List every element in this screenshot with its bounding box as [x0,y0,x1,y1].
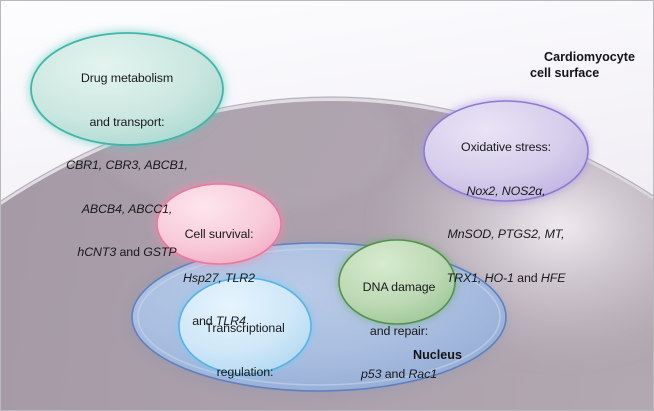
bubble-drug-metabolism[interactable] [31,33,223,145]
bubble-transcriptional-regulation[interactable] [179,278,311,374]
bubble-oxidative-stress[interactable] [424,101,588,201]
nucleus-label-text: Nucleus [413,348,462,362]
bubble-dna-damage[interactable] [339,240,455,324]
figure-panel: Drug metabolism Cardiomyocyte cell surfa… [0,0,654,411]
cell-surface-text: Cardiomyocyte cell surface [530,50,635,80]
bubble-cell-survival[interactable] [157,184,281,264]
nucleus-label: Nucleus [399,331,462,379]
cell-surface-label: Drug metabolism Cardiomyocyte cell surfa… [530,17,635,98]
